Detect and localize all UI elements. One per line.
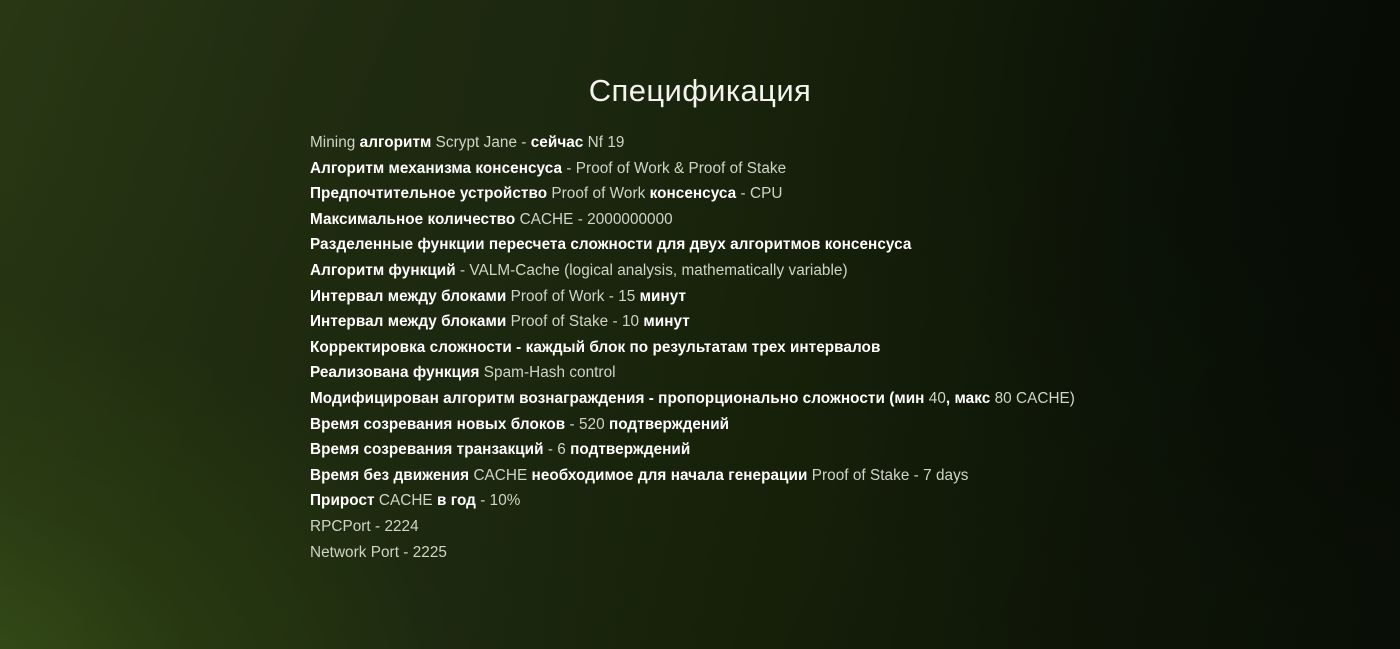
spec-line-segment: сейчас xyxy=(531,134,584,151)
spec-line-pow-block-interval: Интервал между блоками Proof of Work - 1… xyxy=(310,284,1370,310)
spec-line-segment: Корректировка сложности - каждый блок по… xyxy=(310,339,880,356)
spec-line-stake-idle-time: Время без движения CACHE необходимое для… xyxy=(310,463,1370,489)
spec-line-segment: Proof of Stake - 10 xyxy=(506,313,643,330)
spec-line-segment: Разделенные функции пересчета сложности … xyxy=(310,236,911,253)
spec-line-segment: минут xyxy=(640,288,686,305)
spec-line-segment: алгоритм xyxy=(360,134,432,151)
spec-line-transaction-maturity: Время созревания транзакций - 6 подтверж… xyxy=(310,437,1370,463)
spec-line-consensus-mechanism: Алгоритм механизма консенсуса - Proof of… xyxy=(310,156,1370,182)
spec-line-segment: Алгоритм механизма консенсуса xyxy=(310,160,562,177)
spec-line-max-cache-supply: Максимальное количество CACHE - 20000000… xyxy=(310,207,1370,233)
spec-line-segment: CACHE xyxy=(469,467,531,484)
spec-line-segment: подтверждений xyxy=(570,441,690,458)
spec-line-segment: 80 CACHE) xyxy=(995,390,1075,407)
spec-line-segment: Максимальное количество xyxy=(310,211,515,228)
spec-line-segment: - 6 xyxy=(544,441,571,458)
spec-line-block-maturity: Время созревания новых блоков - 520 подт… xyxy=(310,412,1370,438)
spec-line-segment: Реализована функция xyxy=(310,364,480,381)
spec-line-segment: в год xyxy=(437,492,476,509)
spec-line-segment: Предпочтительное устройство xyxy=(310,185,547,202)
spec-line-segment: Scrypt Jane - xyxy=(431,134,530,151)
spec-line-segment: - Proof of Work & Proof of Stake xyxy=(562,160,786,177)
spec-line-segment: минут xyxy=(643,313,689,330)
spec-line-reward-algorithm: Модифицирован алгоритм вознаграждения - … xyxy=(310,386,1370,412)
spec-line-annual-growth: Прирост CACHE в год - 10% xyxy=(310,488,1370,514)
spec-line-segment: Proof of Stake - 7 days xyxy=(807,467,968,484)
spec-line-segment: 40 xyxy=(929,390,946,407)
spec-line-segment: Время созревания транзакций xyxy=(310,441,544,458)
spec-line-segment: Spam-Hash control xyxy=(480,364,616,381)
spec-line-pos-block-interval: Интервал между блоками Proof of Stake - … xyxy=(310,309,1370,335)
spec-line-separate-difficulty-retarget: Разделенные функции пересчета сложности … xyxy=(310,232,1370,258)
specification-list: Mining алгоритм Scrypt Jane - сейчас Nf … xyxy=(310,130,1370,565)
spec-line-segment: - CPU xyxy=(736,185,782,202)
spec-line-network-port: Network Port - 2225 xyxy=(310,540,1370,566)
spec-line-segment: подтверждений xyxy=(609,416,729,433)
spec-line-segment: необходимое для начала генерации xyxy=(532,467,808,484)
page-title: Спецификация xyxy=(0,71,1400,111)
spec-line-segment: Интервал между блоками xyxy=(310,288,506,305)
spec-line-segment: CACHE xyxy=(375,492,437,509)
spec-line-segment: - VALM-Cache (logical analysis, mathemat… xyxy=(456,262,848,279)
spec-line-segment: Proof of Work xyxy=(547,185,649,202)
spec-line-segment: Mining xyxy=(310,134,360,151)
spec-line-segment: - 520 xyxy=(565,416,609,433)
spec-line-mining-algorithm: Mining алгоритм Scrypt Jane - сейчас Nf … xyxy=(310,130,1370,156)
spec-line-segment: Время без движения xyxy=(310,467,469,484)
spec-line-segment: Прирост xyxy=(310,492,375,509)
spec-line-segment: - 10% xyxy=(476,492,521,509)
specification-slide: Спецификация Mining алгоритм Scrypt Jane… xyxy=(0,0,1400,649)
spec-line-segment: CACHE - 2000000000 xyxy=(515,211,672,228)
spec-line-segment: , макс xyxy=(946,390,995,407)
spec-line-spam-hash-control: Реализована функция Spam-Hash control xyxy=(310,360,1370,386)
spec-line-difficulty-adjustment: Корректировка сложности - каждый блок по… xyxy=(310,335,1370,361)
spec-line-segment: Интервал между блоками xyxy=(310,313,506,330)
spec-line-rpc-port: RPCPort - 2224 xyxy=(310,514,1370,540)
spec-line-segment: Модифицирован алгоритм вознаграждения - … xyxy=(310,390,929,407)
spec-line-function-algorithm: Алгоритм функций - VALM-Cache (logical a… xyxy=(310,258,1370,284)
spec-line-segment: RPCPort - 2224 xyxy=(310,518,419,535)
spec-line-segment: Proof of Work - 15 xyxy=(506,288,639,305)
spec-line-segment: Nf 19 xyxy=(583,134,624,151)
spec-line-segment: консенсуса xyxy=(650,185,737,202)
spec-line-preferred-pow-device: Предпочтительное устройство Proof of Wor… xyxy=(310,181,1370,207)
spec-line-segment: Алгоритм функций xyxy=(310,262,456,279)
spec-line-segment: Время созревания новых блоков xyxy=(310,416,565,433)
spec-line-segment: Network Port - 2225 xyxy=(310,544,447,561)
